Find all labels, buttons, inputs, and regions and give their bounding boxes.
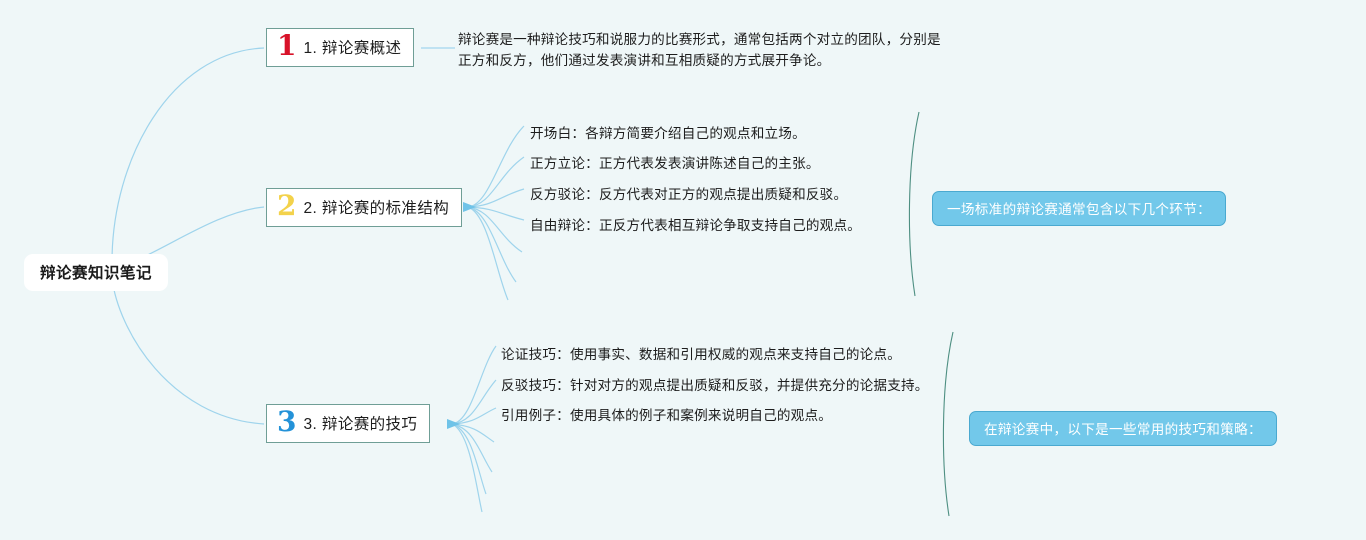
- branch-3-number: 3: [277, 408, 296, 436]
- leaf-item[interactable]: 反驳技巧：针对对方的观点提出质疑和反驳，并提供充分的论据支持。: [501, 374, 929, 394]
- connector-fan-branch-3: [452, 346, 496, 512]
- root-node[interactable]: 辩论赛知识笔记: [24, 254, 168, 291]
- branch-1-number: 1: [277, 32, 296, 60]
- branch-node-1[interactable]: 1 1. 辩论赛概述: [266, 28, 414, 67]
- branch-2-fan-marker: [463, 202, 476, 212]
- brace-group-3: [943, 332, 953, 516]
- branch-3-fan-marker: [447, 419, 460, 429]
- mindmap-canvas: 辩论赛知识笔记 1 1. 辩论赛概述 辩论赛是一种辩论技巧和说服力的比赛形式，通…: [0, 0, 1366, 540]
- connector-fan-branch-2: [468, 126, 524, 300]
- branch-1-description-line-2: 正方和反方，他们通过发表演讲和互相质疑的方式展开争论。: [458, 50, 988, 71]
- connector-root-to-branch-1: [112, 48, 264, 262]
- branch-2-label: 2. 辩论赛的标准结构: [303, 196, 449, 218]
- branch-1-description: 辩论赛是一种辩论技巧和说服力的比赛形式，通常包括两个对立的团队，分别是 正方和反…: [458, 29, 988, 71]
- branch-1-description-line-1: 辩论赛是一种辩论技巧和说服力的比赛形式，通常包括两个对立的团队，分别是: [458, 29, 988, 50]
- branch-node-2[interactable]: 2 2. 辩论赛的标准结构: [266, 188, 462, 227]
- branch-2-number: 2: [277, 192, 296, 220]
- leaf-item[interactable]: 反方驳论：反方代表对正方的观点提出质疑和反驳。: [530, 183, 847, 203]
- root-node-label: 辩论赛知识笔记: [40, 265, 152, 282]
- summary-badge-3[interactable]: 在辩论赛中，以下是一些常用的技巧和策略：: [969, 411, 1277, 446]
- leaf-item[interactable]: 引用例子：使用具体的例子和案例来说明自己的观点。: [501, 404, 832, 424]
- connector-root-to-branch-3: [112, 278, 264, 424]
- leaf-item[interactable]: 开场白：各辩方简要介绍自己的观点和立场。: [530, 122, 806, 142]
- leaf-item[interactable]: 正方立论：正方代表发表演讲陈述自己的主张。: [530, 152, 820, 172]
- branch-1-label: 1. 辩论赛概述: [303, 36, 401, 58]
- connector-lines: [0, 0, 1366, 540]
- leaf-item[interactable]: 论证技巧：使用事实、数据和引用权威的观点来支持自己的论点。: [501, 343, 901, 363]
- branch-3-label: 3. 辩论赛的技巧: [303, 412, 417, 434]
- brace-group-2: [909, 112, 919, 296]
- leaf-item[interactable]: 自由辩论：正反方代表相互辩论争取支持自己的观点。: [530, 214, 861, 234]
- branch-node-3[interactable]: 3 3. 辩论赛的技巧: [266, 404, 430, 443]
- summary-badge-2[interactable]: 一场标准的辩论赛通常包含以下几个环节：: [932, 191, 1226, 226]
